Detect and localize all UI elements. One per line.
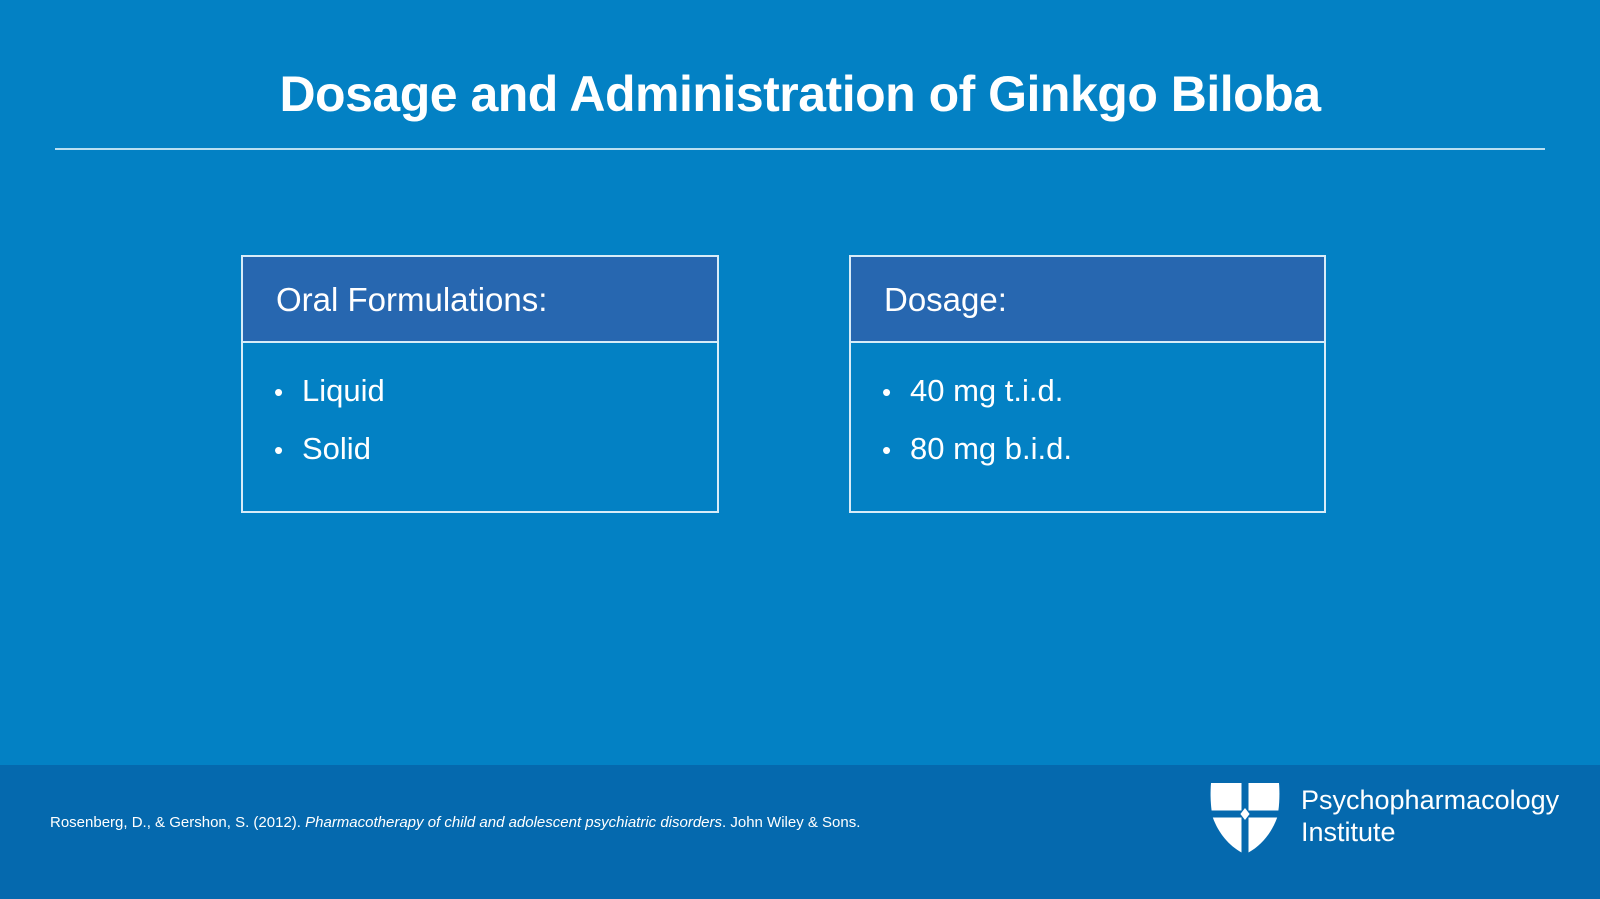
brand-name-line2: Institute [1301, 817, 1559, 849]
list-item-label: Liquid [302, 375, 385, 406]
panel-dosage: Dosage: • 40 mg t.i.d. • 80 mg b.i.d. [849, 255, 1326, 513]
bullet-icon: • [882, 437, 910, 463]
list-item: • Solid [274, 433, 717, 464]
brand-logo: Psychopharmacology Institute [1207, 777, 1559, 857]
list-item-label: Solid [302, 433, 371, 464]
shield-icon [1207, 777, 1283, 857]
citation-authors-year: Rosenberg, D., & Gershon, S. (2012). [50, 814, 305, 831]
panel-header-label: Oral Formulations: [276, 283, 547, 316]
list-item: • 80 mg b.i.d. [882, 433, 1324, 464]
citation-publisher: . John Wiley & Sons. [722, 814, 860, 831]
brand-logo-text: Psychopharmacology Institute [1301, 785, 1559, 849]
list-item: • 40 mg t.i.d. [882, 375, 1324, 406]
bullet-icon: • [274, 379, 302, 405]
bullet-icon: • [274, 437, 302, 463]
brand-name-line1: Psychopharmacology [1301, 785, 1559, 815]
list-item-label: 80 mg b.i.d. [910, 433, 1072, 464]
citation-reference: Rosenberg, D., & Gershon, S. (2012). Pha… [50, 813, 860, 833]
page-title: Dosage and Administration of Ginkgo Bilo… [0, 68, 1600, 121]
panel-header-oral-formulations: Oral Formulations: [243, 257, 717, 343]
panel-header-label: Dosage: [884, 283, 1007, 316]
panel-oral-formulations: Oral Formulations: • Liquid • Solid [241, 255, 719, 513]
bullet-icon: • [882, 379, 910, 405]
title-divider [55, 148, 1545, 150]
slide: Dosage and Administration of Ginkgo Bilo… [0, 0, 1600, 899]
panel-body-oral-formulations: • Liquid • Solid [243, 345, 717, 511]
list-item: • Liquid [274, 375, 717, 406]
panel-body-dosage: • 40 mg t.i.d. • 80 mg b.i.d. [851, 345, 1324, 511]
citation-work-title: Pharmacotherapy of child and adolescent … [305, 814, 722, 831]
panel-header-dosage: Dosage: [851, 257, 1324, 343]
list-item-label: 40 mg t.i.d. [910, 375, 1063, 406]
